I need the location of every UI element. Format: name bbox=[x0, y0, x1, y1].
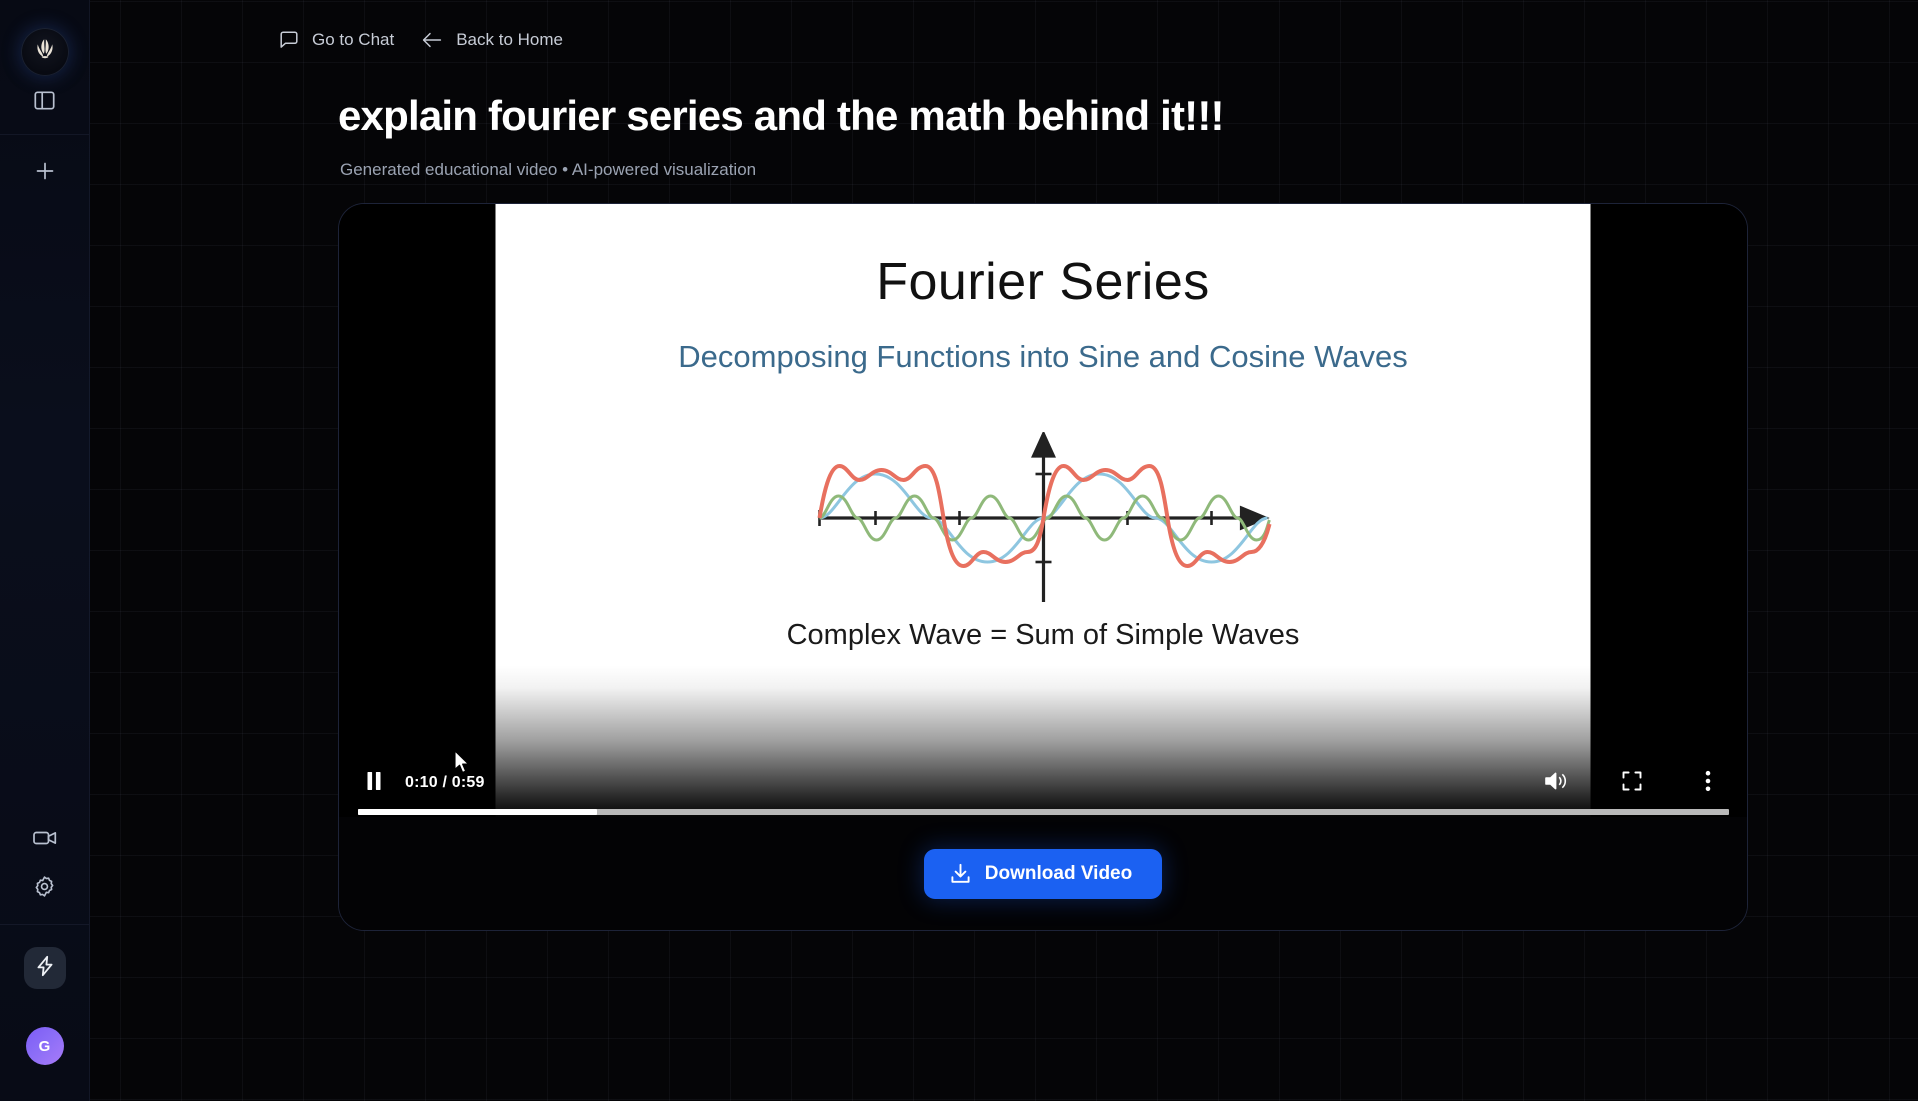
sidebar-item-upgrade[interactable] bbox=[24, 947, 66, 989]
fullscreen-icon bbox=[1622, 771, 1642, 796]
plus-icon bbox=[34, 160, 56, 182]
avatar[interactable]: G bbox=[26, 1027, 64, 1065]
video-controls-right bbox=[1539, 766, 1747, 800]
video-progress-bar[interactable] bbox=[358, 809, 1729, 815]
top-navigation: Go to Chat Back to Home bbox=[280, 30, 563, 50]
sidebar-item-toggle-panel[interactable] bbox=[23, 78, 67, 122]
play-pause-button[interactable] bbox=[357, 766, 391, 800]
pause-icon bbox=[366, 772, 382, 795]
page-title: explain fourier series and the math behi… bbox=[338, 92, 1224, 140]
video-progress-played bbox=[358, 809, 597, 815]
video-card: Fourier Series Decomposing Functions int… bbox=[338, 203, 1748, 931]
download-video-label: Download Video bbox=[985, 863, 1132, 885]
app-logo[interactable] bbox=[21, 28, 69, 76]
sidebar-tools-group bbox=[23, 808, 67, 924]
arrow-left-icon bbox=[422, 32, 442, 48]
app-root: G Go to Chat Bac bbox=[0, 0, 1918, 1101]
avatar-initial: G bbox=[39, 1038, 51, 1055]
time-display: 0:10 / 0:59 bbox=[405, 774, 485, 792]
sidebar-upgrade-group bbox=[24, 925, 66, 989]
volume-button[interactable] bbox=[1539, 766, 1573, 800]
download-icon bbox=[950, 863, 971, 884]
sidebar-new-group bbox=[23, 135, 67, 207]
lightning-bolt-icon bbox=[35, 955, 55, 982]
main-content: Go to Chat Back to Home explain fourier … bbox=[90, 0, 1918, 1101]
slide-subtitle: Decomposing Functions into Sine and Cosi… bbox=[496, 339, 1591, 375]
video-frame: Fourier Series Decomposing Functions int… bbox=[496, 204, 1591, 819]
back-to-home-label: Back to Home bbox=[456, 30, 563, 50]
more-vertical-icon bbox=[1705, 770, 1711, 797]
sidebar-item-new-chat[interactable] bbox=[23, 149, 67, 193]
fourier-wave-illustration bbox=[813, 432, 1273, 602]
lotus-logo-icon bbox=[30, 37, 60, 68]
sidebar-avatar-group: G bbox=[26, 989, 64, 1101]
sidebar-item-video[interactable] bbox=[23, 816, 67, 860]
sidebar: G bbox=[0, 0, 90, 1101]
slide-title: Fourier Series bbox=[496, 252, 1591, 312]
gear-icon bbox=[33, 875, 56, 898]
video-controls-left: 0:10 / 0:59 bbox=[339, 766, 485, 800]
page-subtitle: Generated educational video • AI-powered… bbox=[340, 160, 756, 180]
download-video-button[interactable]: Download Video bbox=[924, 849, 1162, 899]
chat-bubble-icon bbox=[280, 31, 298, 49]
sidebar-item-settings[interactable] bbox=[23, 864, 67, 908]
panel-toggle-icon bbox=[34, 91, 55, 110]
sidebar-top-group bbox=[21, 0, 69, 134]
fullscreen-button[interactable] bbox=[1615, 766, 1649, 800]
more-options-button[interactable] bbox=[1691, 766, 1725, 800]
video-camera-icon bbox=[33, 829, 57, 847]
back-to-home-button[interactable]: Back to Home bbox=[422, 30, 563, 50]
slide-caption: Complex Wave = Sum of Simple Waves bbox=[496, 619, 1591, 652]
video-player[interactable]: Fourier Series Decomposing Functions int… bbox=[339, 204, 1747, 819]
download-bar: Download Video bbox=[339, 817, 1747, 930]
go-to-chat-label: Go to Chat bbox=[312, 30, 394, 50]
go-to-chat-button[interactable]: Go to Chat bbox=[280, 30, 394, 50]
volume-icon bbox=[1544, 771, 1568, 796]
